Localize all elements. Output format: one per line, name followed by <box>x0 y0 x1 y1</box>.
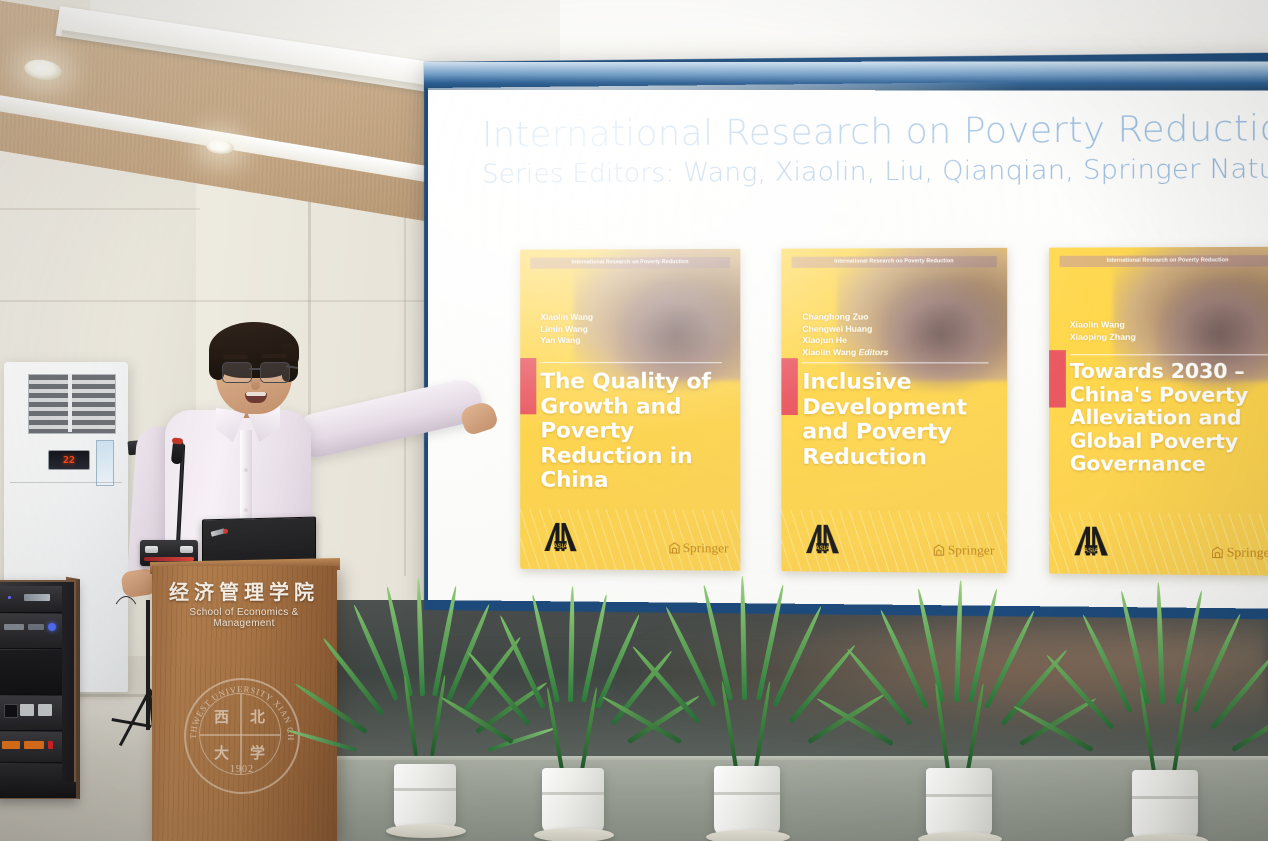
cover-author-line: Yan Wang <box>540 335 726 347</box>
plant-pot <box>542 768 604 834</box>
ac-temperature-value: 22 <box>63 455 75 466</box>
cover-rule <box>540 362 722 364</box>
plant-pot <box>926 768 992 838</box>
asia-logo-icon: ASIA <box>804 523 841 556</box>
cover-author-line: Limin Wang <box>540 323 726 335</box>
potted-plant <box>352 578 502 841</box>
ac-vent-grille <box>28 374 116 434</box>
springer-label: Springer <box>948 542 995 559</box>
rack-unit[interactable] <box>0 732 62 763</box>
plant-pot <box>394 764 456 830</box>
cover-series-text: International Research on Poverty Reduct… <box>530 257 730 269</box>
springer-logo: Springer <box>668 540 728 557</box>
presenter-eyebrow <box>261 354 286 358</box>
glasses-bridge <box>249 368 261 370</box>
cover-series-text: International Research on Poverty Reduct… <box>1059 255 1268 267</box>
cover-author-line: Xiaolin Wang <box>540 312 726 324</box>
cover-accent-mark <box>1049 350 1066 407</box>
cover-author-line: Xiaojun He <box>802 335 992 347</box>
seal-year: 1902 <box>186 764 298 775</box>
svg-text:ASIA: ASIA <box>554 544 568 550</box>
microphone-indicator-ring <box>172 437 184 444</box>
cover-accent-mark <box>520 358 536 414</box>
rack-unit[interactable] <box>0 614 62 649</box>
springer-mark-icon <box>668 542 679 554</box>
cover-series-band: International Research on Poverty Reduct… <box>1059 255 1268 267</box>
cover-editors-label: Editors <box>859 347 889 357</box>
pot-band <box>926 794 992 797</box>
glasses-icon <box>222 362 252 383</box>
potted-plant <box>668 576 828 841</box>
cover-rule <box>802 362 988 364</box>
plant-saucer <box>386 824 466 838</box>
springer-label: Springer <box>1227 544 1268 561</box>
book-cover: International Research on Poverty Reduct… <box>520 249 741 571</box>
shirt-button <box>244 468 248 472</box>
av-rack[interactable] <box>0 580 76 799</box>
pot-band <box>714 792 780 795</box>
springer-mark-icon <box>1212 546 1224 558</box>
projection-screen[interactable]: International Research on Poverty Reduct… <box>428 79 1268 609</box>
pot-band <box>1132 796 1198 799</box>
cover-series-band: International Research on Poverty Reduct… <box>792 256 996 268</box>
cover-authors: Xiaolin Wang Limin Wang Yan Wang <box>540 312 726 347</box>
book-cover: International Research on Poverty Reduct… <box>782 248 1007 573</box>
plant-pot <box>1132 770 1198 840</box>
podium: 经济管理学院 School of Economics & Management … <box>152 566 337 841</box>
pot-band <box>394 788 456 791</box>
rack-unit[interactable] <box>0 586 62 613</box>
springer-logo: Springer <box>933 542 994 559</box>
cover-title: Inclusive Development and Poverty Reduct… <box>802 370 994 470</box>
plant-saucer <box>918 832 1002 841</box>
cable <box>108 596 144 684</box>
microphone-button[interactable] <box>180 546 193 553</box>
presenter-eyebrow <box>223 355 248 359</box>
cover-author-line: Xiaolin Wang <box>1070 319 1268 331</box>
cover-author-line: Chengwei Huang <box>802 323 992 335</box>
springer-mark-icon <box>933 544 944 556</box>
podium-sign: 经济管理学院 School of Economics & Management <box>164 576 324 629</box>
asia-logo-icon: ASIA <box>542 521 578 553</box>
seal-character: 大 <box>214 742 229 763</box>
potted-plant <box>880 580 1040 841</box>
seal-character: 西 <box>214 706 229 727</box>
wall-seam-horizontal <box>0 300 436 302</box>
slide-subtitle: Series Editors: Wang, Xiaolin, Liu, Qian… <box>482 154 1268 190</box>
svg-text:ASIA: ASIA <box>816 546 830 552</box>
ac-panel-seam <box>10 482 122 483</box>
springer-label: Springer <box>683 540 729 557</box>
seal-character: 学 <box>250 742 265 763</box>
plant-pot <box>714 766 780 836</box>
cover-author-line-editors: Xiaolin Wang Editors <box>802 347 992 359</box>
book-cover: International Research on Poverty Reduct… <box>1049 247 1268 576</box>
slide-title: International Research on Poverty Reduct… <box>482 108 1268 156</box>
conference-photo-scene: International Research on Poverty Reduct… <box>0 0 1268 841</box>
cover-rule <box>1070 354 1268 356</box>
projection-screen-top-band <box>424 62 1268 91</box>
presenter-teeth <box>246 392 266 396</box>
wall-seam-horizontal-2 <box>0 208 200 210</box>
cover-series-text: International Research on Poverty Reduct… <box>792 256 996 268</box>
springer-logo: Springer <box>1212 544 1268 561</box>
podium-name-chinese: 经济管理学院 <box>164 576 324 605</box>
svg-text:ASIA: ASIA <box>1084 548 1098 554</box>
microphone-button[interactable] <box>145 546 158 553</box>
ac-vent-divider <box>68 374 72 432</box>
book-cover-row: International Research on Poverty Reduct… <box>520 247 1268 588</box>
pot-band <box>542 792 604 795</box>
presenter-right-arm <box>291 376 486 462</box>
asia-logo-icon: ASIA <box>1072 525 1110 558</box>
cover-authors: Xiaolin Wang Xiaoping Zhang <box>1070 319 1268 343</box>
shirt-button <box>244 508 248 512</box>
cover-title: Towards 2030 – China's Poverty Alleviati… <box>1070 360 1268 476</box>
seal-cross-horizontal <box>200 734 280 736</box>
plant-saucer <box>534 828 614 841</box>
ac-display: 22 <box>48 450 90 470</box>
podium-name-english: School of Economics & Management <box>164 607 324 629</box>
cover-accent-mark <box>782 358 798 415</box>
cover-author-name: Xiaolin Wang <box>802 347 856 357</box>
university-seal: NORTHWEST UNIVERSITY XIAN CHINA 西 北 大 学 … <box>184 678 300 794</box>
rack-unit[interactable] <box>0 696 62 731</box>
plant-saucer <box>706 830 790 841</box>
presenter-nose <box>251 376 260 390</box>
laptop-logo-dot-icon <box>223 529 228 534</box>
av-rack-base <box>0 782 76 798</box>
cover-author-line: Changhong Zuo <box>802 311 992 323</box>
cover-authors: Changhong Zuo Chengwei Huang Xiaojun He … <box>802 311 992 358</box>
rack-unit[interactable] <box>0 650 62 695</box>
cover-author-line: Xiaoping Zhang <box>1070 331 1268 343</box>
plant-saucer <box>1124 834 1208 841</box>
cover-series-band: International Research on Poverty Reduct… <box>530 257 730 269</box>
seal-character: 北 <box>250 706 265 727</box>
cover-title: The Quality of Growth and Poverty Reduct… <box>540 370 728 494</box>
potted-plant <box>1082 582 1250 841</box>
